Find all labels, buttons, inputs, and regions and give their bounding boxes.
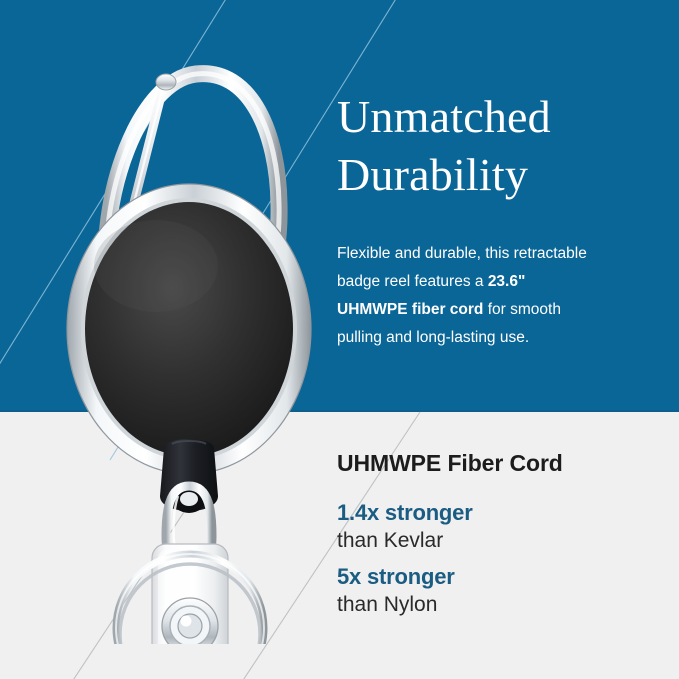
product-infographic: Unmatched Durability Flexible and durabl… [0,0,679,679]
retractable-badge-reel-image [46,44,316,644]
headline-line-1: Unmatched [337,88,657,146]
body-text-part-1: Flexible and durable, this retractable b… [337,245,587,290]
spec-comparison-nylon: than Nylon [337,591,455,619]
spec-comparison-kevlar: than Kevlar [337,527,473,555]
spec-item-kevlar: 1.4x stronger than Kevlar [337,499,473,555]
hero-body-copy: Flexible and durable, this retractable b… [337,240,595,352]
spec-strength-nylon: 5x stronger [337,563,455,591]
headline-line-2: Durability [337,146,657,204]
spec-strength-kevlar: 1.4x stronger [337,499,473,527]
hero-headline: Unmatched Durability [337,88,657,204]
spec-title: UHMWPE Fiber Cord [337,450,563,477]
black-reel-face [85,202,293,456]
spec-item-nylon: 5x stronger than Nylon [337,563,455,619]
